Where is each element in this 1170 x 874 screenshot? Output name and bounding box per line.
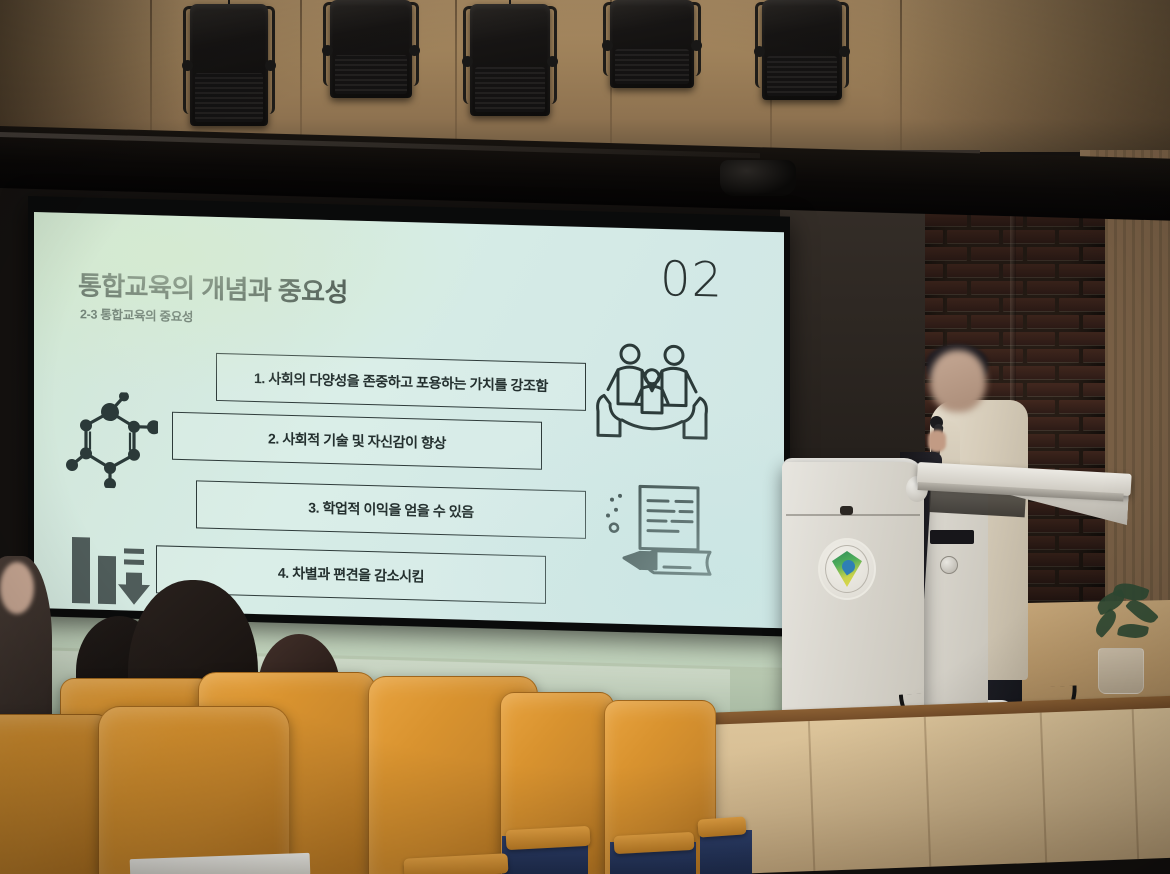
stage-light-4 xyxy=(610,0,694,88)
slide-point-3: 3. 학업적 이익을 얻을 수 있음 xyxy=(196,480,586,539)
document-scroll-pencil-icon xyxy=(598,479,724,590)
slide-point-1: 1. 사회의 다양성을 존중하고 포용하는 가치를 강조함 xyxy=(216,353,586,411)
university-emblem xyxy=(818,538,876,600)
stage-light-3 xyxy=(470,4,550,116)
presenter-hand xyxy=(928,430,946,452)
molecule-icon xyxy=(66,391,158,489)
podium-lock[interactable] xyxy=(840,506,853,515)
audience-face-1 xyxy=(0,562,34,614)
stage-light-5 xyxy=(762,0,842,100)
slide-point-2: 2. 사회적 기술 및 자신감이 향상 xyxy=(172,412,542,470)
ceiling-shadow-right xyxy=(880,0,1170,152)
truss-mounted-light xyxy=(720,160,796,196)
armrest-4 xyxy=(697,816,746,837)
bar-chart-decrease-icon xyxy=(68,531,164,612)
plant-pot xyxy=(1098,648,1144,694)
family-in-hands-icon xyxy=(594,339,710,446)
podium-door-seam xyxy=(786,514,920,516)
projected-slide: 02 통합교육의 개념과 중요성 2-3 통합교육의 중요성 xyxy=(34,212,784,628)
slide-section-number: 02 xyxy=(660,251,780,310)
stage-light-2 xyxy=(330,0,412,98)
podium-control-panel[interactable] xyxy=(930,530,974,544)
seat-front-1[interactable] xyxy=(0,714,112,874)
stage-light-1 xyxy=(190,4,268,126)
lecture-hall-photo: 02 통합교육의 개념과 중요성 2-3 통합교육의 중요성 xyxy=(0,0,1170,874)
presenter-head xyxy=(930,350,986,412)
podium-dial[interactable] xyxy=(940,556,958,574)
seat-front-2[interactable] xyxy=(98,706,290,874)
